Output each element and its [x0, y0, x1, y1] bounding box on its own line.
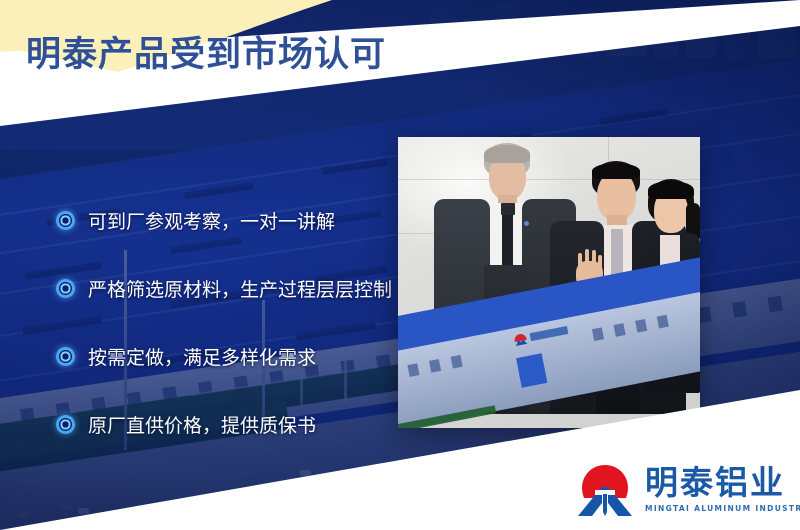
target-bullet-icon: [56, 347, 75, 366]
list-item: 原厂直供价格，提供质保书: [56, 410, 392, 438]
list-item: 按需定做，满足多样化需求: [56, 342, 392, 370]
list-item: 可到厂参观考察，一对一讲解: [56, 206, 392, 234]
feature-list: 可到厂参观考察，一对一讲解 严格筛选原材料，生产过程层层控制 按需定做，满足多样…: [56, 206, 392, 478]
list-item: 严格筛选原材料，生产过程层层控制: [56, 274, 392, 302]
target-bullet-icon: [56, 211, 75, 230]
target-bullet-icon: [56, 415, 75, 434]
feature-text: 原厂直供价格，提供质保书: [88, 411, 316, 438]
brand-name-cn: 明泰铝业: [645, 466, 800, 499]
company-logo: 明泰铝业 MINGTAI ALUMINUM INDUSTRY CO., LTD: [572, 462, 800, 518]
brand-name-en: MINGTAI ALUMINUM INDUSTRY CO., LTD: [645, 504, 800, 513]
target-bullet-icon: [56, 279, 75, 298]
business-people-photo: [398, 137, 700, 428]
page-title: 明泰产品受到市场认可: [26, 26, 386, 77]
feature-text: 按需定做，满足多样化需求: [88, 343, 316, 370]
promotional-banner: 明泰产品受到市场认可 可到厂参观考察，一对一讲解 严格筛选原材料，生产过程层层控…: [0, 0, 800, 530]
mingtai-mountain-sun-logo-icon: [572, 462, 638, 518]
feature-text: 严格筛选原材料，生产过程层层控制: [88, 275, 392, 302]
feature-text: 可到厂参观考察，一对一讲解: [88, 207, 335, 234]
